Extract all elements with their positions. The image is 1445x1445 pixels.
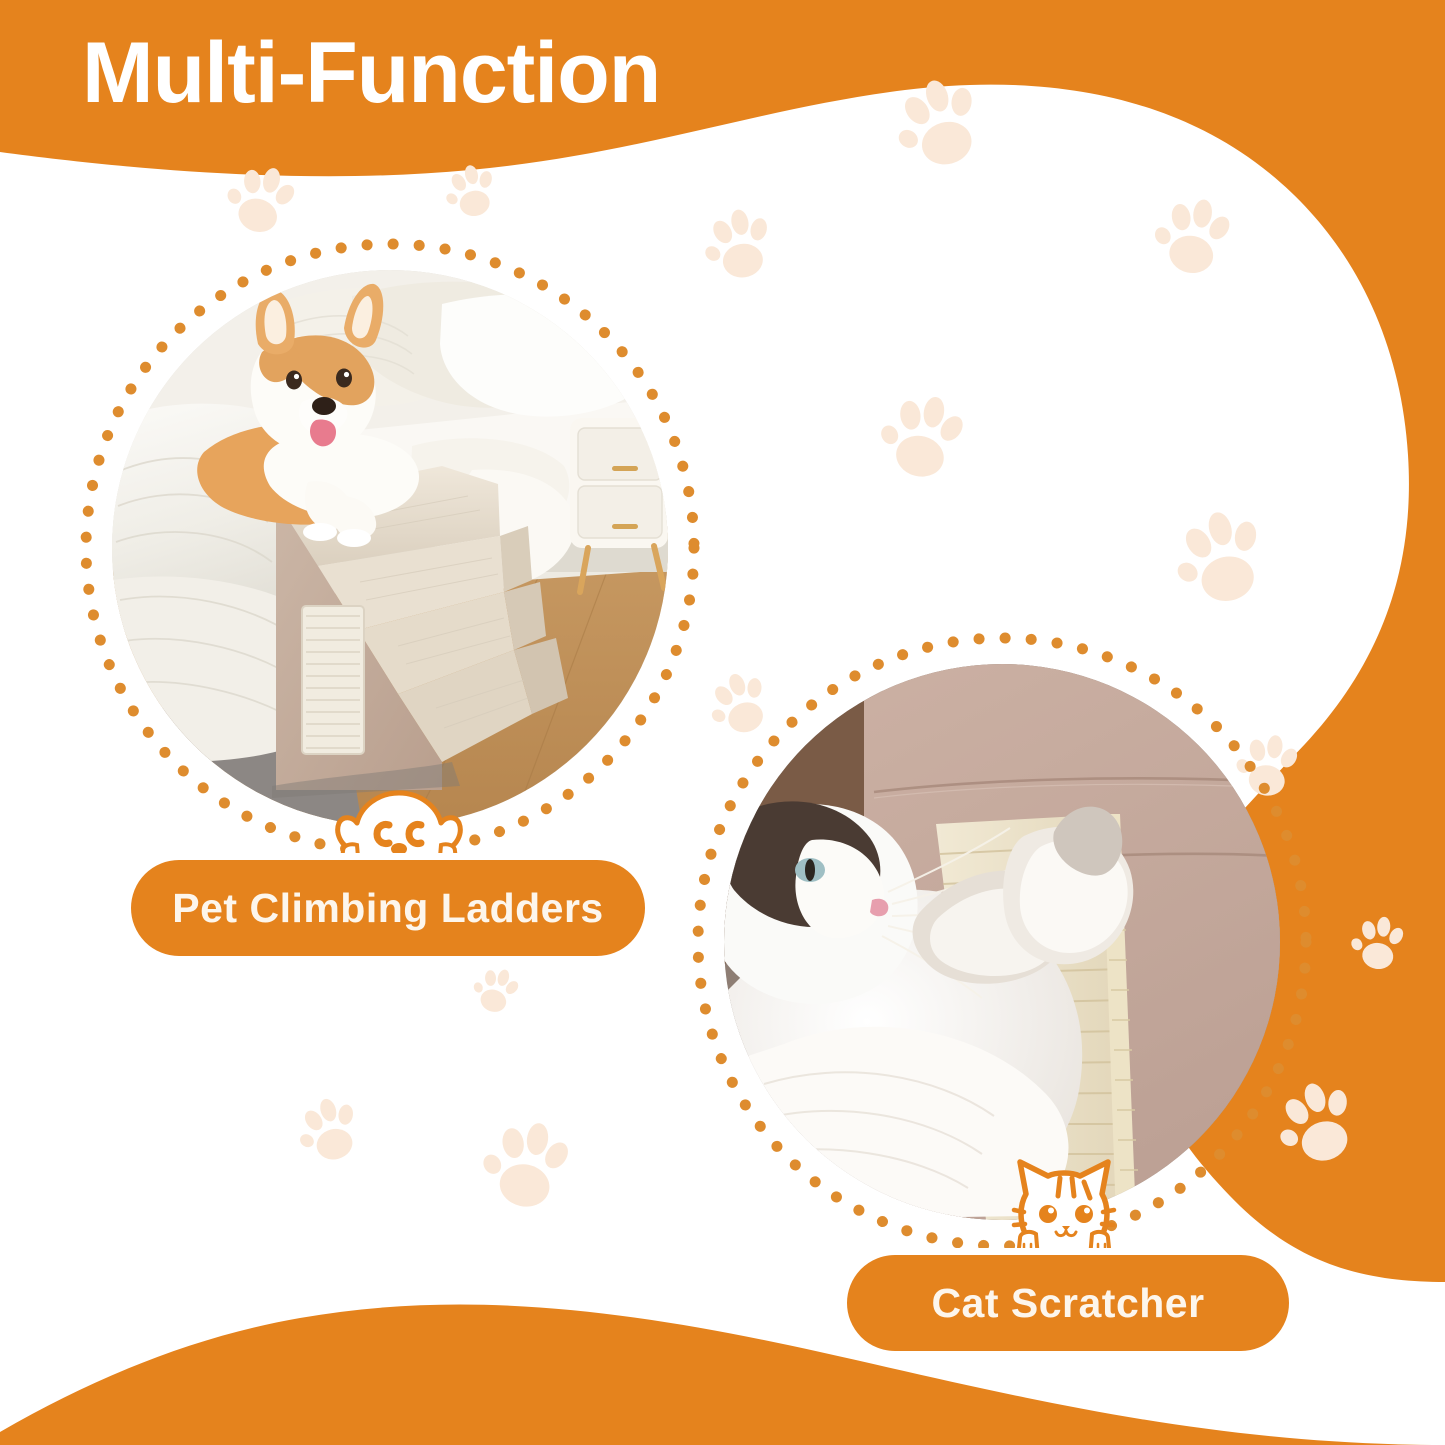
photo-cat-scratching-sisal-panel — [724, 664, 1280, 1220]
product-feature-banner: Multi-Function — [0, 0, 1445, 1445]
cat-face-icon — [1004, 1152, 1124, 1258]
photo-dog-on-bed-with-stairs — [112, 270, 668, 826]
feature-badge-cat-scratcher[interactable]: Cat Scratcher — [840, 1248, 1296, 1358]
feature-photo-cat-scratcher — [682, 622, 1322, 1262]
page-title: Multi-Function — [82, 28, 660, 118]
badge-label: Cat Scratcher — [931, 1280, 1204, 1327]
badge-label: Pet Climbing Ladders — [172, 885, 603, 932]
feature-photo-pet-climbing-ladders — [70, 228, 710, 868]
feature-badge-pet-climbing-ladders[interactable]: Pet Climbing Ladders — [124, 853, 652, 963]
